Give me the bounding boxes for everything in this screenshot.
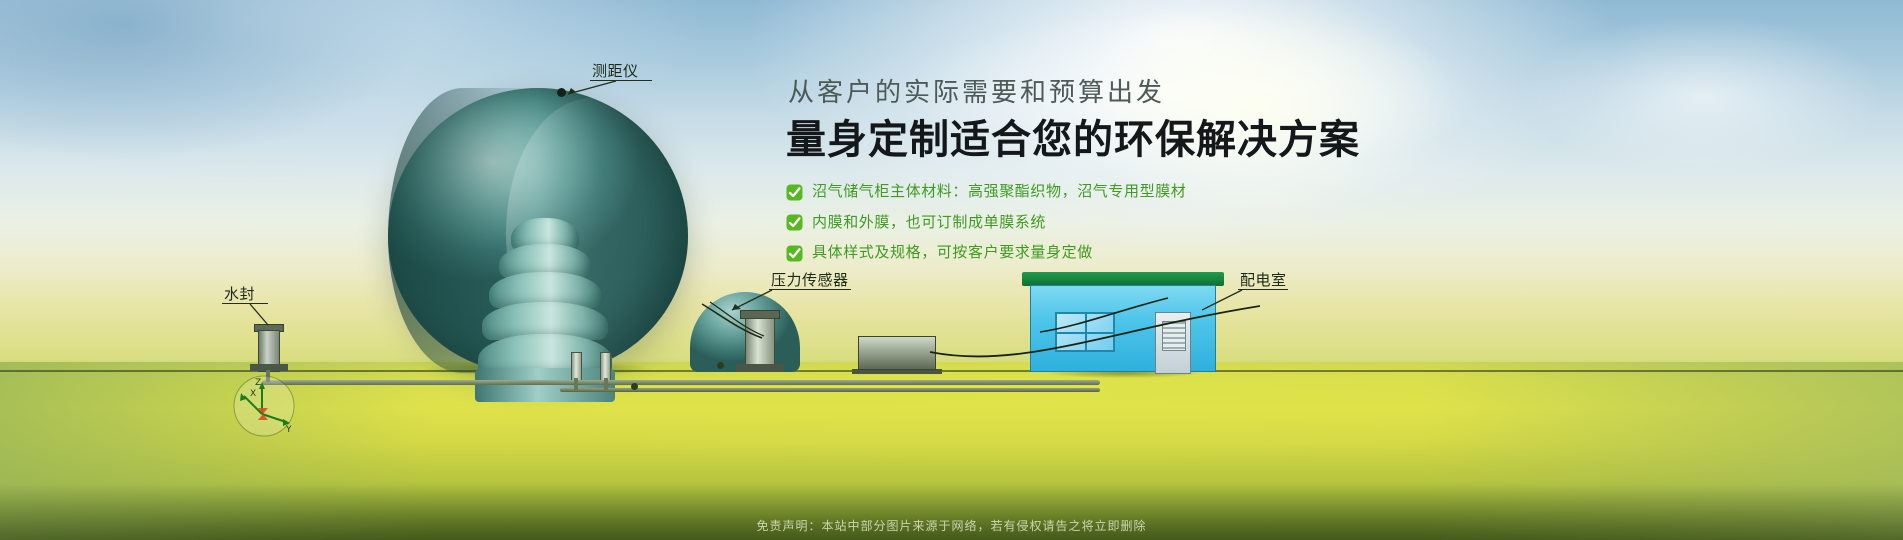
callout-water-seal-leader	[246, 303, 274, 329]
callout-room-leader	[1196, 288, 1244, 316]
axis-label-z: Z	[255, 378, 261, 388]
room-cable	[1040, 296, 1170, 336]
callout-pressure-leader	[712, 288, 774, 322]
axis-label-x: X	[250, 389, 256, 399]
secondary-pipeline	[560, 388, 1100, 392]
dome-inner-membrane	[480, 218, 610, 398]
callout-rangefinder: 测距仪	[592, 60, 639, 81]
feature-bullet-list: 沼气储气柜主体材料：高强聚酯织物，沼气专用型膜材 内膜和外膜，也可订制成单膜系统	[786, 182, 1486, 263]
pressure-sensor-foot	[736, 364, 784, 372]
marketing-copy-block: 从客户的实际需要和预算出发 量身定制适合您的环保解决方案 沼气储气柜主体材料：高…	[786, 78, 1486, 274]
membrane-base	[475, 368, 615, 402]
pipe-connector	[574, 378, 578, 390]
check-icon	[786, 214, 803, 231]
callout-room-rule	[1238, 289, 1288, 290]
list-item-label: 沼气储气柜主体材料：高强聚酯织物，沼气专用型膜材	[812, 182, 1186, 202]
pipe-valve-node	[717, 362, 724, 369]
hero-banner: 测距仪 水封 压力传感器 配电室 Z Y X	[0, 0, 1903, 540]
copy-headline: 量身定制适合您的环保解决方案	[786, 117, 1486, 164]
list-item-label: 具体样式及规格，可按客户要求量身定做	[812, 243, 1093, 263]
callout-pressure-rule	[769, 289, 851, 290]
list-item: 沼气储气柜主体材料：高强聚酯织物，沼气专用型膜材	[786, 182, 1486, 202]
pipe-connector	[604, 378, 608, 390]
disclaimer-text: 免责声明：本站中部分图片来源于网络，若有侵权请告之将立即删除	[0, 517, 1903, 534]
callout-water-seal: 水封	[224, 283, 255, 304]
copy-subtitle: 从客户的实际需要和预算出发	[786, 78, 1486, 109]
main-gas-pipeline	[262, 380, 1100, 385]
blower-unit	[858, 336, 936, 370]
gas-holder-dome	[388, 88, 688, 373]
pipe-valve-node	[631, 383, 638, 390]
room-roof	[1022, 272, 1224, 286]
list-item: 具体样式及规格，可按客户要求量身定做	[786, 243, 1486, 263]
list-item-label: 内膜和外膜，也可订制成单膜系统	[812, 213, 1046, 233]
check-icon	[786, 184, 803, 201]
axis-label-y: Y	[285, 425, 292, 435]
callout-rangefinder-leader	[558, 80, 618, 98]
check-icon	[786, 245, 803, 262]
list-item: 内膜和外膜，也可订制成单膜系统	[786, 213, 1486, 233]
axis-orientation-gizmo: Z Y X	[228, 370, 300, 442]
